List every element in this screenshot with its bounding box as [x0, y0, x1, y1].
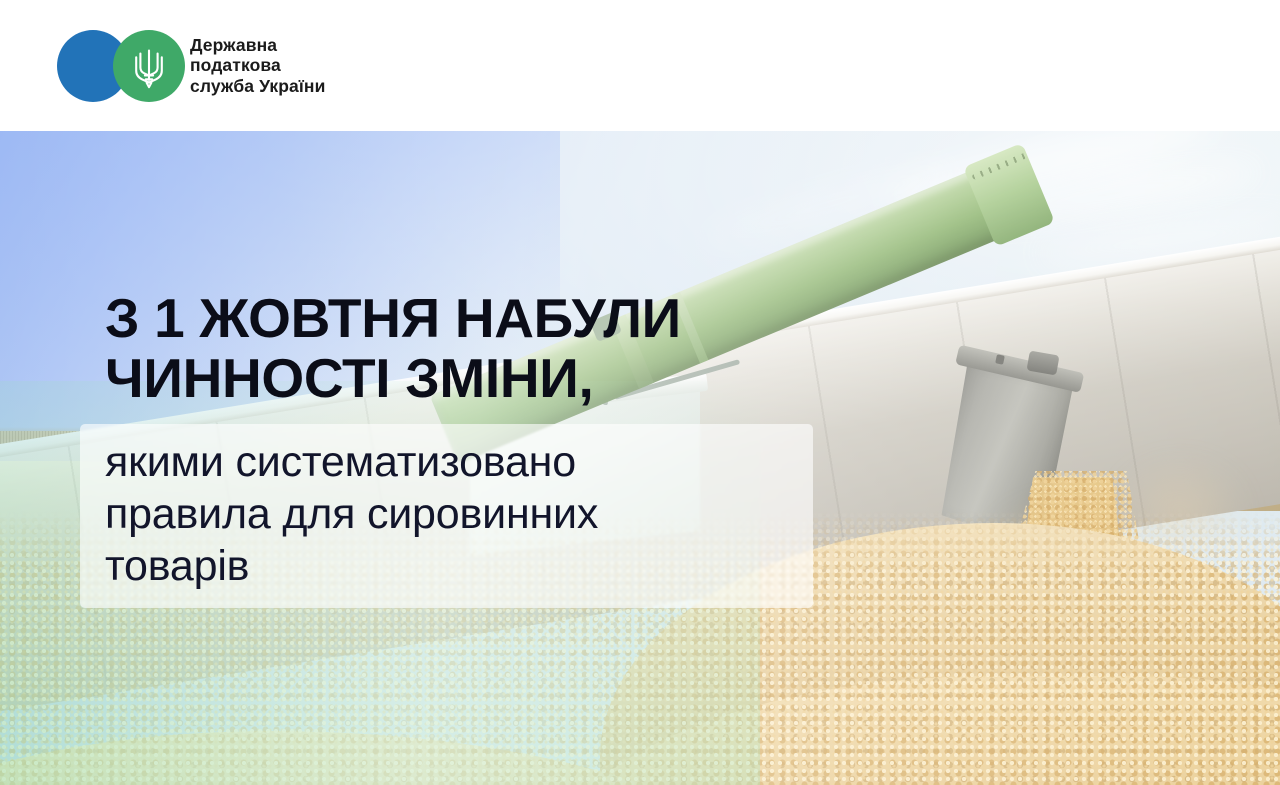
page-subtitle: якими систематизовано правила для сирови… — [105, 436, 865, 592]
promo-banner: Державна податкова служба України — [0, 0, 1280, 785]
subtitle-line-3: товарів — [105, 540, 865, 592]
logo-line-1: Державна — [190, 35, 325, 56]
logo-text: Державна податкова служба України — [190, 35, 325, 97]
subtitle-line-2: правила для сировинних — [105, 488, 865, 540]
logo-line-3: служба України — [190, 76, 325, 97]
logo-marks — [57, 30, 185, 102]
headline-line-2: ЧИННОСТІ ЗМІНИ, — [105, 348, 865, 408]
dps-logo[interactable]: Державна податкова служба України — [57, 30, 325, 102]
headline-line-1: З 1 ЖОВТНЯ НАБУЛИ — [105, 288, 865, 348]
ukraine-trident-icon — [113, 30, 185, 102]
subtitle-line-1: якими систематизовано — [105, 436, 865, 488]
page-title: З 1 ЖОВТНЯ НАБУЛИ ЧИННОСТІ ЗМІНИ, — [105, 288, 865, 408]
logo-line-2: податкова — [190, 55, 325, 76]
header-bar: Державна податкова служба України — [0, 0, 1280, 131]
